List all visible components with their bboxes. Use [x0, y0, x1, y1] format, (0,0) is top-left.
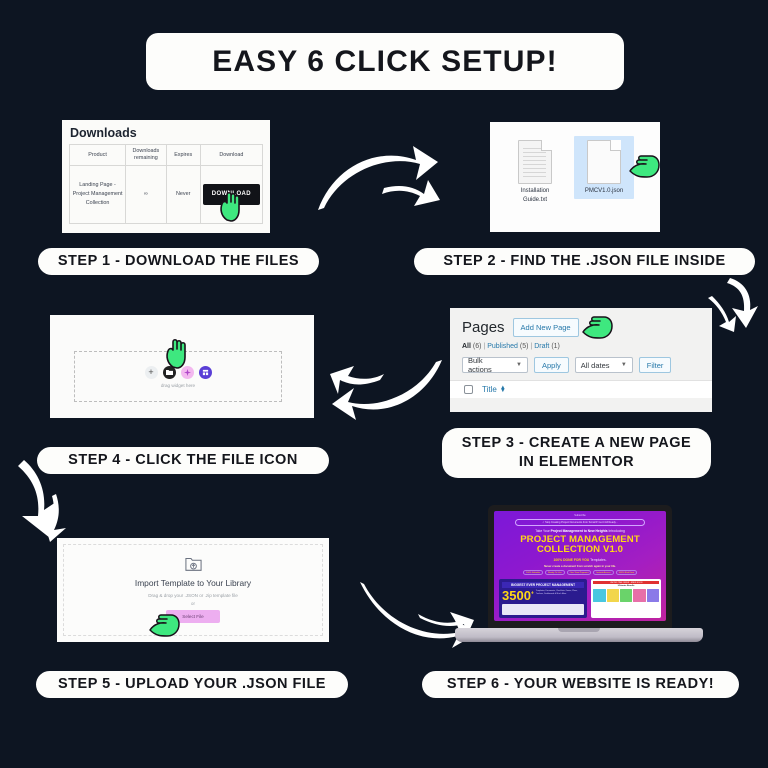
hand-cursor-step2 [627, 155, 661, 181]
col-remaining: Downloads remaining [126, 145, 166, 166]
hand-cursor-step4 [164, 337, 190, 369]
select-all-checkbox[interactable] [464, 385, 473, 394]
step5-caption-text: STEP 5 - UPLOAD YOUR .JSON FILE [58, 675, 326, 694]
file-item-pmcv1-json[interactable]: PMCV1.0.json [574, 136, 634, 199]
step5-import-template-screenshot: Import Template to Your Library Drag & d… [57, 538, 329, 642]
badge: Ready To Use [545, 570, 565, 575]
card-left-blurb: Templates, Documents, Checklists, Forms,… [536, 588, 584, 602]
screen-card-left: BIGGEST EVER PROJECT MANAGEMENT 3500+ Te… [499, 579, 587, 618]
pre-headline-c: Introducing [608, 529, 625, 533]
step6-caption: STEP 6 - YOUR WEBSITE IS READY! [422, 671, 739, 698]
col-product: Product [70, 145, 126, 166]
filter-draft-label[interactable]: Draft [534, 343, 549, 350]
col-expires: Expires [166, 145, 200, 166]
step6-caption-text: STEP 6 - YOUR WEBSITE IS READY! [447, 675, 714, 694]
filter-published-label[interactable]: Published [487, 343, 518, 350]
cell-remaining: ∞ [126, 166, 166, 224]
step2-caption: STEP 2 - FIND THE .JSON FILE INSIDE [414, 248, 755, 275]
screen-pre-headline: Take Your Project Management to New Heig… [494, 529, 666, 533]
page-title-text: EASY 6 CLICK SETUP! [212, 45, 557, 79]
column-header-title-label: Title [482, 385, 497, 394]
import-or-label: or [191, 601, 195, 606]
arrow-step4-to-step5 [4, 458, 78, 544]
sort-arrows-icon: ▲▼ [500, 387, 506, 393]
import-title: Import Template to Your Library [135, 578, 251, 588]
subheadline-a: 100% DONE FOR YOU [553, 558, 589, 562]
cell-product: Landing Page - Project Management Collec… [70, 166, 126, 224]
arrow-step1-to-step2 [312, 140, 444, 222]
laptop-lid: Subscribe ✓ Stop Creating Project Docume… [488, 505, 672, 629]
apply-button[interactable]: Apply [534, 357, 569, 373]
import-subtitle: Drag & drop your .JSON or .zip template … [148, 593, 238, 598]
bulk-actions-select[interactable]: Bulk actions ▼ [462, 357, 528, 373]
all-dates-select[interactable]: All dates ▼ [575, 357, 633, 373]
filter-all-count: (6) [473, 343, 482, 350]
arrow-step3-to-step4 [330, 352, 448, 426]
card-right-thumbnail-grid [593, 589, 659, 602]
badge: 100% Editable [523, 570, 543, 575]
badge: One Time Payment [567, 570, 592, 575]
card-left-strip [502, 604, 584, 615]
file-item-installation-guide[interactable]: Installation Guide.txt [508, 140, 562, 204]
cell-expires: Never [166, 166, 200, 224]
screen-top-label: Subscribe [494, 511, 666, 517]
step4-caption-text: STEP 4 - CLICK THE FILE ICON [68, 451, 298, 470]
column-header-title[interactable]: Title ▲▼ [482, 385, 506, 394]
import-dropzone[interactable]: Import Template to Your Library Drag & d… [63, 544, 323, 636]
infographic-canvas: EASY 6 CLICK SETUP! Downloads Product Do… [0, 0, 768, 768]
text-file-icon [518, 140, 552, 184]
laptop-screen: Subscribe ✓ Stop Creating Project Docume… [494, 511, 666, 621]
file-name-label: PMCV1.0.json [585, 187, 623, 196]
chevron-down-icon: ▼ [516, 362, 522, 368]
plus-icon[interactable]: + [145, 366, 158, 379]
pages-title: Pages [462, 319, 505, 336]
file-name-label: Installation Guide.txt [508, 187, 562, 204]
downloads-heading: Downloads [62, 120, 270, 144]
step5-caption: STEP 5 - UPLOAD YOUR .JSON FILE [36, 671, 348, 698]
screen-tagline: Never create a document from scratch aga… [494, 565, 666, 568]
upload-folder-icon [185, 556, 202, 572]
hand-cursor-step1 [218, 190, 244, 222]
page-title: EASY 6 CLICK SETUP! [146, 33, 624, 90]
filter-separator: | [483, 343, 485, 350]
badge: Instant Access [593, 570, 613, 575]
filter-button[interactable]: Filter [639, 357, 672, 373]
hand-cursor-step3 [580, 316, 614, 342]
headline-line-2: COLLECTION V1.0 [494, 545, 666, 556]
screen-ribbon: ✓ Stop Creating Project Documents from S… [515, 519, 646, 526]
badge: 100% Risk Free [616, 570, 638, 575]
template-library-icon[interactable] [199, 366, 212, 379]
screen-subheadline: 100% DONE FOR YOU Templates. [494, 558, 666, 562]
step4-caption: STEP 4 - CLICK THE FILE ICON [37, 447, 329, 474]
all-dates-value: All dates [581, 361, 610, 370]
step1-caption: STEP 1 - DOWNLOAD THE FILES [38, 248, 319, 275]
table-header-row: Product Downloads remaining Expires Down… [70, 145, 263, 166]
pre-headline-a: Take Your [535, 529, 550, 533]
step2-caption-text: STEP 2 - FIND THE .JSON FILE INSIDE [443, 252, 725, 271]
subheadline-b: Templates. [589, 558, 606, 562]
pre-headline-b: Project Management to New Heights [551, 529, 608, 533]
card-right-title: Ultimate Bundle [593, 585, 659, 587]
laptop-notch [558, 628, 600, 632]
pages-table-header: Title ▲▼ [450, 380, 712, 398]
step1-caption-text: STEP 1 - DOWNLOAD THE FILES [58, 252, 299, 271]
filter-all-label[interactable]: All [462, 343, 471, 350]
step3-caption-text: STEP 3 - CREATE A NEW PAGE IN ELEMENTOR [454, 434, 699, 472]
add-new-page-button[interactable]: Add New Page [513, 318, 579, 337]
step6-laptop-mockup: Subscribe ✓ Stop Creating Project Docume… [455, 505, 703, 670]
card-left-body: 3500+ Templates, Documents, Checklists, … [502, 588, 584, 602]
screen-card-right: LIMITED TIME OFFER - ENDS SOON Ultimate … [591, 579, 661, 618]
col-download: Download [200, 145, 262, 166]
card-left-number-value: 3500 [502, 588, 531, 603]
card-left-number: 3500+ [502, 589, 534, 602]
screen-headline: PROJECT MANAGEMENT COLLECTION V1.0 [494, 535, 666, 556]
filter-separator: | [530, 343, 532, 350]
screen-cards: BIGGEST EVER PROJECT MANAGEMENT 3500+ Te… [494, 579, 666, 618]
step3-caption: STEP 3 - CREATE A NEW PAGE IN ELEMENTOR [442, 428, 711, 478]
json-file-icon [587, 140, 621, 184]
screen-badges: 100% Editable Ready To Use One Time Paym… [494, 570, 666, 575]
pages-toolbar: Bulk actions ▼ Apply All dates ▼ Filter [450, 350, 712, 373]
bulk-actions-value: Bulk actions [468, 356, 506, 374]
chevron-down-icon: ▼ [621, 362, 627, 368]
drop-zone-hint: drag widget here [161, 383, 195, 388]
card-left-number-sup: + [531, 591, 534, 597]
filter-draft-count: (1) [551, 343, 560, 350]
filter-published-count: (5) [520, 343, 529, 350]
hand-cursor-step5 [147, 614, 181, 640]
